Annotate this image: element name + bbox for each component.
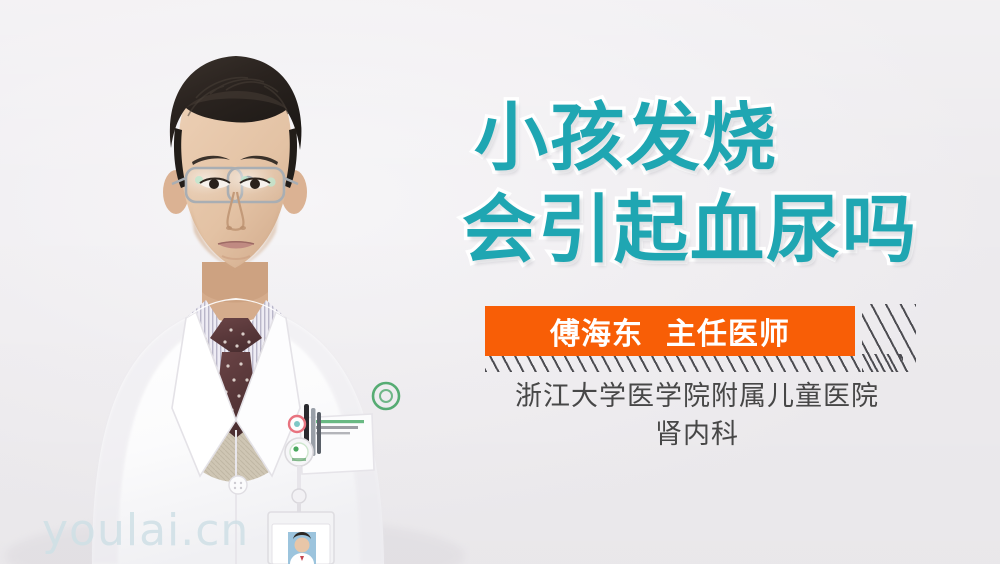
department-name: 肾内科: [462, 416, 932, 454]
hospital-name: 浙江大学医学院附属儿童医院: [515, 381, 879, 412]
headline-line-1: 小孩发烧: [462, 92, 962, 184]
headline: 小孩发烧 会引起血尿吗: [462, 92, 962, 276]
doctor-name-banner-group: 傅海东 主任医师: [472, 300, 932, 378]
doctor-portrait: [0, 0, 470, 564]
site-watermark: youlai.cn: [42, 505, 249, 556]
affiliation-block: 浙江大学医学院附属儿童医院 肾内科: [462, 378, 932, 454]
doctor-name-title-text: 傅海东 主任医师: [550, 309, 790, 353]
headline-line-2: 会引起血尿吗: [462, 184, 962, 276]
poster-canvas: youlai.cn 小孩发烧 会引起血尿吗 傅海东 主任医师 浙江大学医学院附属…: [0, 0, 1000, 564]
hatch-pattern-bottom: [485, 354, 903, 372]
doctor-name-banner: 傅海东 主任医师: [485, 306, 855, 356]
